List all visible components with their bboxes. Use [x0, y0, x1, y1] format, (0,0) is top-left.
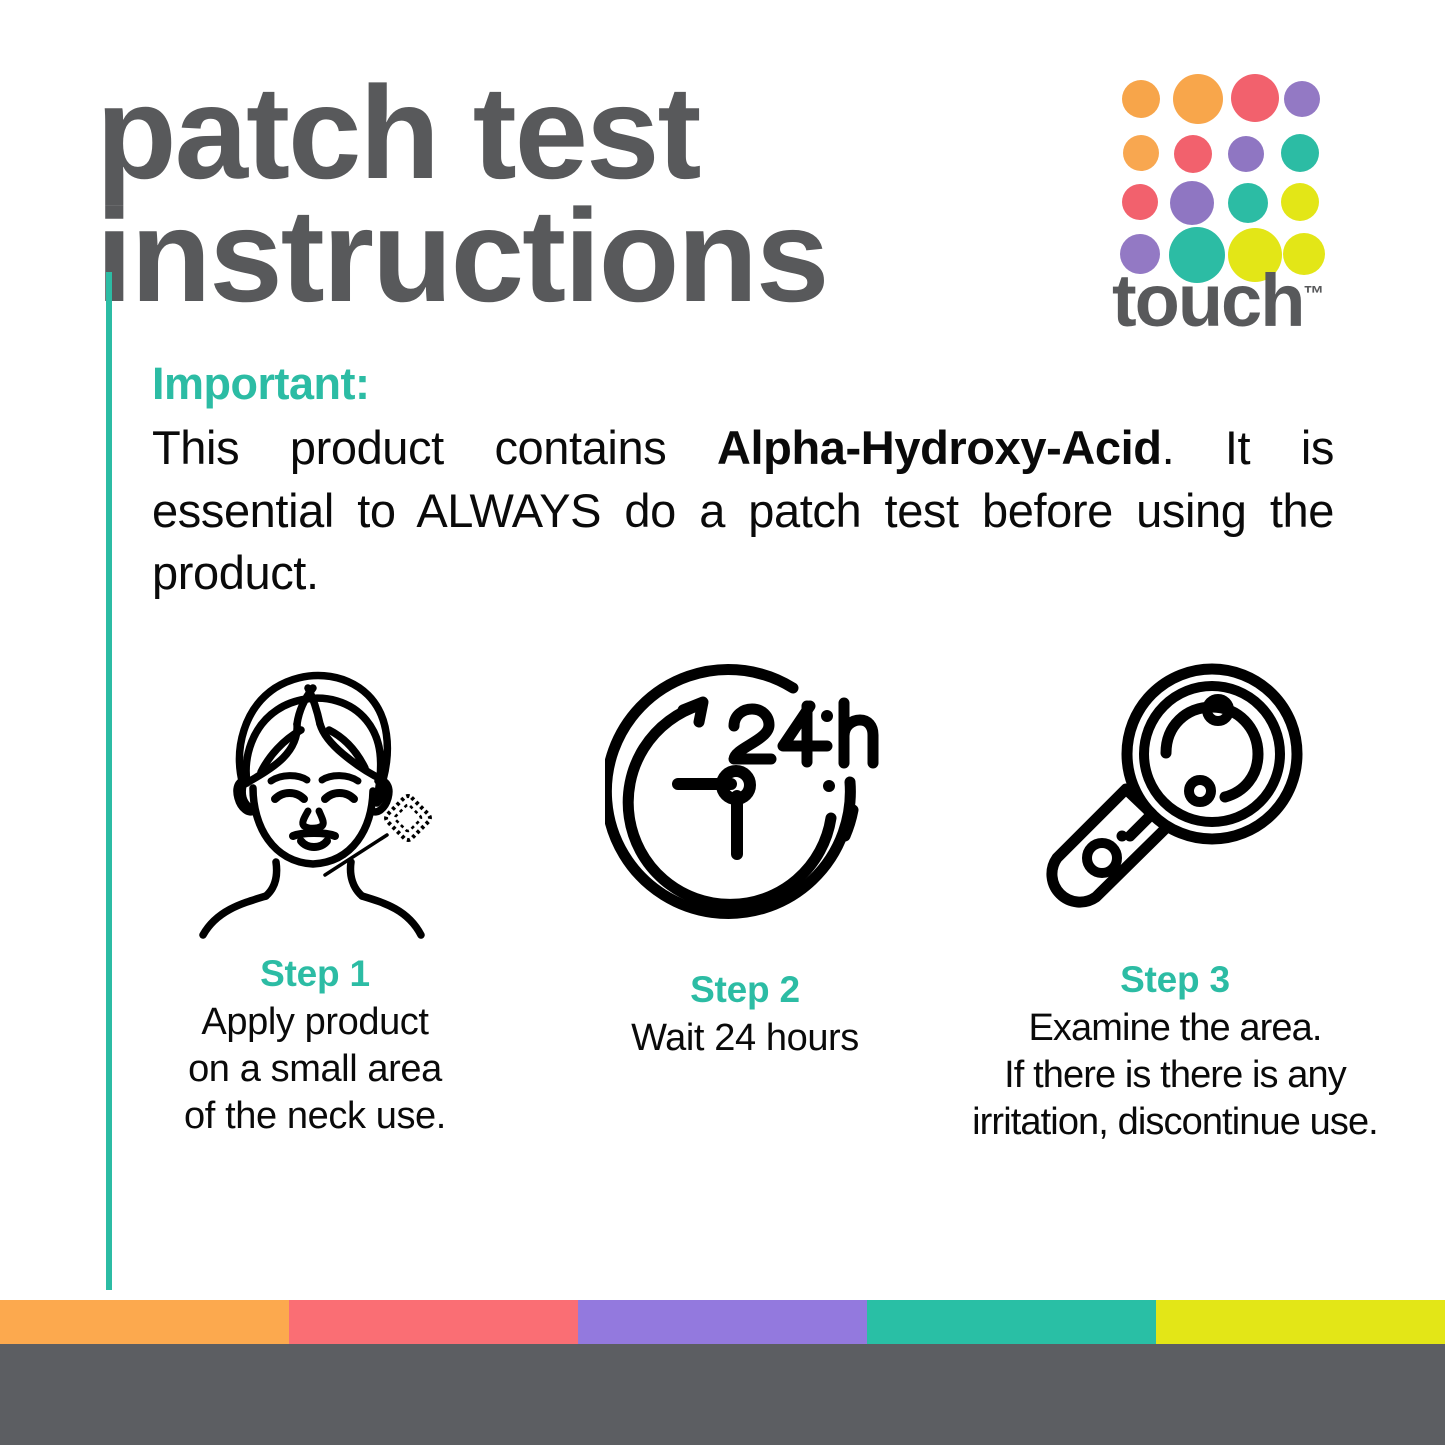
step-1-caption-line-1: Apply product — [184, 999, 446, 1046]
logo-dot-12 — [1281, 183, 1319, 221]
steps-row: Step 1 Apply product on a small area of … — [100, 648, 1390, 1146]
step-3: Step 3 Examine the area. If there is the… — [960, 648, 1390, 1146]
trademark-symbol: ™ — [1303, 282, 1324, 305]
logo-dot-7 — [1228, 136, 1264, 172]
step-2-label: Step 2 — [690, 970, 800, 1011]
footer-color-segment-4 — [867, 1300, 1156, 1344]
logo-dot-1 — [1122, 80, 1160, 118]
step-3-caption: Examine the area. If there is there is a… — [972, 1005, 1378, 1146]
step-1-caption: Apply product on a small area of the nec… — [184, 999, 446, 1140]
paragraph-bold-term: Alpha-Hydroxy-Acid — [717, 421, 1162, 474]
footer-gray-band — [0, 1344, 1445, 1445]
face-with-towel-turban-patch-icon — [165, 648, 465, 948]
magnifying-glass-icon — [1030, 648, 1320, 948]
logo-dot-2 — [1173, 74, 1223, 124]
wordmark-text: touch — [1112, 259, 1303, 342]
logo-dot-11 — [1228, 183, 1268, 223]
step-1-caption-line-2: on a small area — [184, 1046, 446, 1093]
logo-dot-10 — [1170, 181, 1214, 225]
step-3-caption-line-3: irritation, discontinue use. — [972, 1099, 1378, 1146]
step-3-label: Step 3 — [1120, 960, 1230, 1001]
patch-test-instructions-page: patch test instructions touch™ Important… — [0, 0, 1445, 1445]
logo-dot-5 — [1123, 135, 1159, 171]
touch-dot-grid-icon — [1120, 78, 1316, 254]
paragraph-part-1: This product contains — [152, 421, 717, 474]
footer-color-segment-2 — [289, 1300, 578, 1344]
step-1-caption-line-3: of the neck use. — [184, 1093, 446, 1140]
step-2: Step 2 Wait 24 hours — [530, 648, 960, 1062]
footer-color-segment-5 — [1156, 1300, 1445, 1344]
step-2-caption: Wait 24 hours — [631, 1015, 859, 1062]
step-1-label: Step 1 — [260, 954, 370, 995]
logo-dot-8 — [1281, 134, 1319, 172]
footer-color-bar — [0, 1300, 1445, 1344]
step-3-caption-line-1: Examine the area. — [972, 1005, 1378, 1052]
footer-color-segment-3 — [578, 1300, 867, 1344]
title-line-2: instructions — [96, 197, 1056, 316]
important-label: Important: — [152, 361, 369, 406]
logo-dot-3 — [1231, 74, 1279, 122]
step-3-caption-line-2: If there is there is any — [972, 1052, 1378, 1099]
important-paragraph: This product contains Alpha-Hydroxy-Acid… — [152, 417, 1334, 605]
title-line-1: patch test — [96, 74, 1056, 193]
logo-dot-6 — [1174, 135, 1212, 173]
brand-logo: touch™ — [1120, 78, 1330, 338]
step-1: Step 1 Apply product on a small area of … — [100, 648, 530, 1140]
clock-24h-icon — [605, 648, 885, 948]
step-2-caption-line-1: Wait 24 hours — [631, 1015, 859, 1062]
page-title: patch test instructions — [96, 74, 1056, 316]
footer-color-segment-1 — [0, 1300, 289, 1344]
logo-dot-4 — [1284, 81, 1320, 117]
logo-dot-9 — [1122, 184, 1158, 220]
brand-wordmark: touch™ — [1112, 264, 1324, 338]
